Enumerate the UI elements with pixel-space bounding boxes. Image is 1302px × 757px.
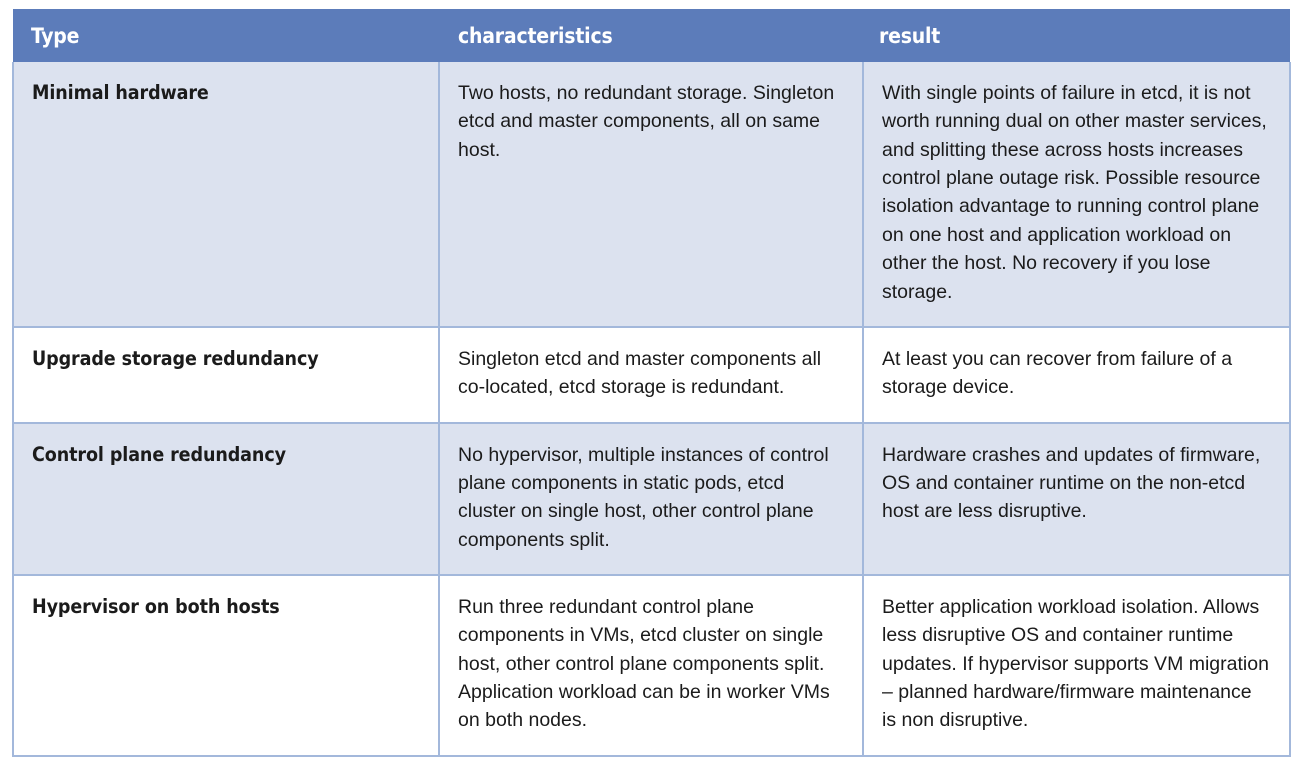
table-body: Minimal hardware Two hosts, no redundant…: [13, 62, 1290, 756]
page-root: Type characteristics result Minimal hard…: [0, 0, 1302, 708]
cell-result: At least you can recover from failure of…: [863, 327, 1290, 423]
cell-text: Two hosts, no redundant storage. Singlet…: [458, 79, 842, 164]
cell-text: Hypervisor on both hosts: [32, 593, 428, 621]
cell-text: Control plane redundancy: [32, 441, 428, 469]
table-row: Minimal hardware Two hosts, no redundant…: [13, 62, 1290, 327]
column-header-result: result: [863, 9, 1290, 62]
cell-text: No hypervisor, multiple instances of con…: [458, 441, 842, 554]
cell-result: Better application workload isolation. A…: [863, 575, 1290, 756]
cell-type: Hypervisor on both hosts: [13, 575, 439, 756]
cell-text: Singleton etcd and master components all…: [458, 345, 842, 402]
column-header-type: Type: [13, 9, 439, 62]
cell-text: With single points of failure in etcd, i…: [882, 79, 1269, 306]
cell-characteristics: Singleton etcd and master components all…: [439, 327, 863, 423]
table-row: Hypervisor on both hosts Run three redun…: [13, 575, 1290, 756]
ha-topology-table: Type characteristics result Minimal hard…: [12, 9, 1291, 757]
cell-type: Minimal hardware: [13, 62, 439, 327]
cell-text: Hardware crashes and updates of firmware…: [882, 441, 1269, 526]
cell-result: With single points of failure in etcd, i…: [863, 62, 1290, 327]
table-header-row: Type characteristics result: [13, 9, 1290, 62]
cell-characteristics: No hypervisor, multiple instances of con…: [439, 423, 863, 575]
cell-characteristics: Two hosts, no redundant storage. Singlet…: [439, 62, 863, 327]
cell-text: Better application workload isolation. A…: [882, 593, 1269, 735]
cell-type: Control plane redundancy: [13, 423, 439, 575]
cell-characteristics: Run three redundant control plane compon…: [439, 575, 863, 756]
table-header: Type characteristics result: [13, 9, 1290, 62]
cell-text: Minimal hardware: [32, 79, 428, 107]
table-row: Upgrade storage redundancy Singleton etc…: [13, 327, 1290, 423]
cell-result: Hardware crashes and updates of firmware…: [863, 423, 1290, 575]
cell-text: Upgrade storage redundancy: [32, 345, 428, 373]
cell-type: Upgrade storage redundancy: [13, 327, 439, 423]
cell-text: At least you can recover from failure of…: [882, 345, 1269, 402]
cell-text: Run three redundant control plane compon…: [458, 593, 842, 735]
table-row: Control plane redundancy No hypervisor, …: [13, 423, 1290, 575]
column-header-characteristics: characteristics: [439, 9, 863, 62]
